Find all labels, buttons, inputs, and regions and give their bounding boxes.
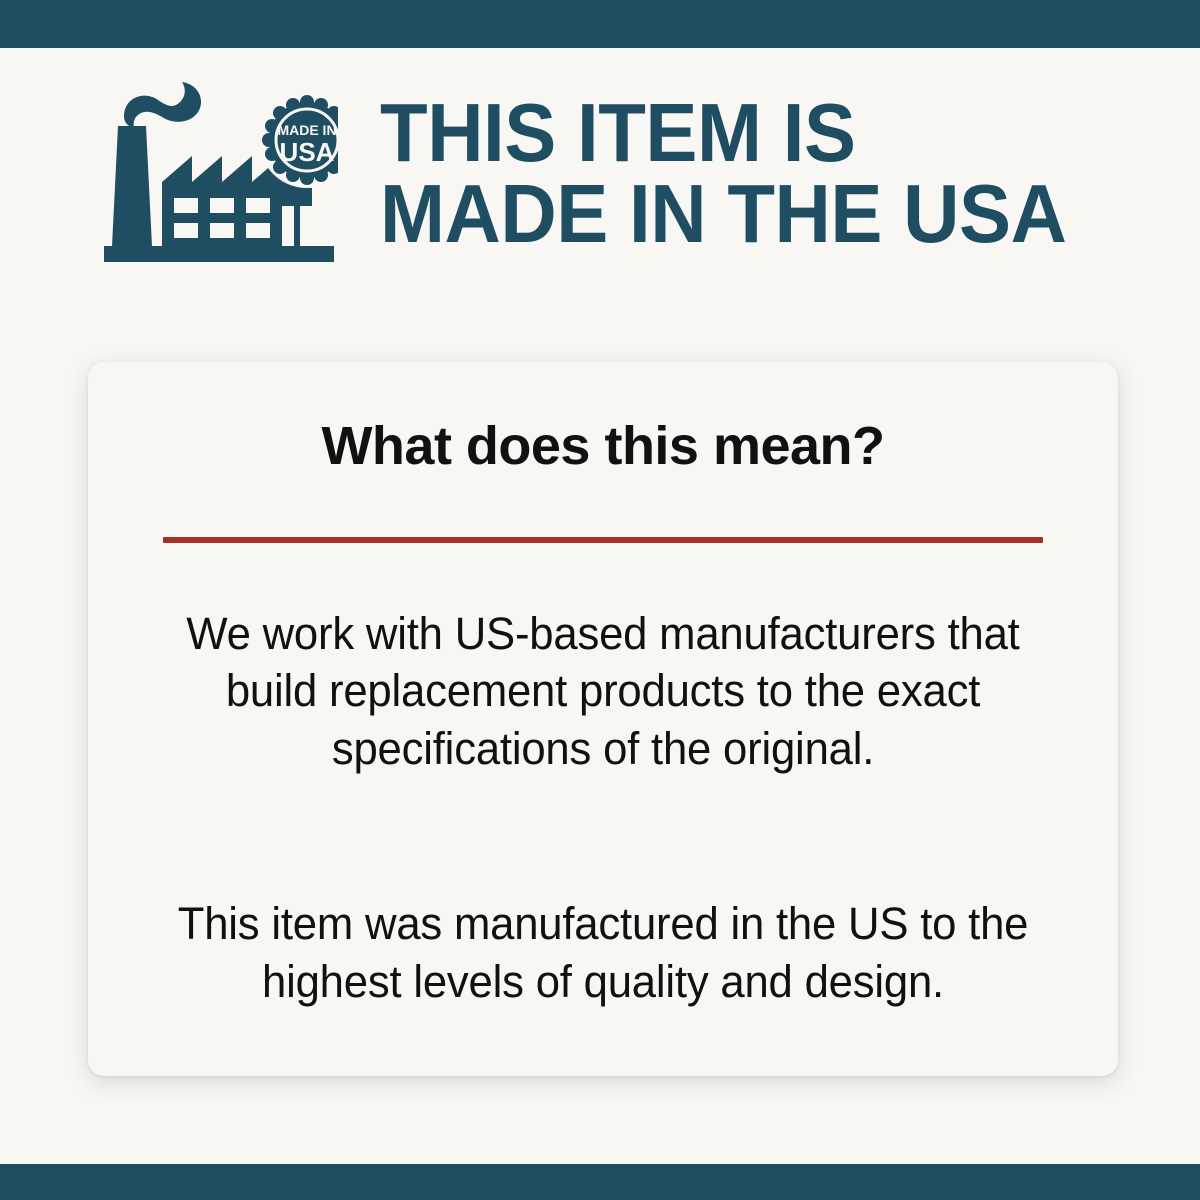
badge-line-2: USA bbox=[280, 137, 335, 167]
badge-line-1: MADE IN bbox=[277, 122, 336, 138]
bottom-band bbox=[0, 1164, 1200, 1200]
card-heading: What does this mean? bbox=[148, 418, 1058, 475]
page-root: MADE IN USA THIS ITEM IS MADE IN THE USA… bbox=[0, 0, 1200, 1200]
page-title: THIS ITEM IS MADE IN THE USA bbox=[380, 92, 1110, 255]
card-paragraph-2: This item was manufactured in the US to … bbox=[162, 895, 1045, 1010]
title-line-2: MADE IN THE USA bbox=[380, 173, 1066, 254]
card-paragraph-1: We work with US-based manufacturers that… bbox=[162, 605, 1045, 778]
top-band bbox=[0, 0, 1200, 48]
factory-logo: MADE IN USA bbox=[100, 78, 338, 268]
header: MADE IN USA THIS ITEM IS MADE IN THE USA bbox=[0, 48, 1200, 298]
info-card: What does this mean? We work with US-bas… bbox=[88, 362, 1118, 1076]
red-divider bbox=[163, 537, 1043, 543]
title-line-1: THIS ITEM IS bbox=[380, 92, 1066, 173]
